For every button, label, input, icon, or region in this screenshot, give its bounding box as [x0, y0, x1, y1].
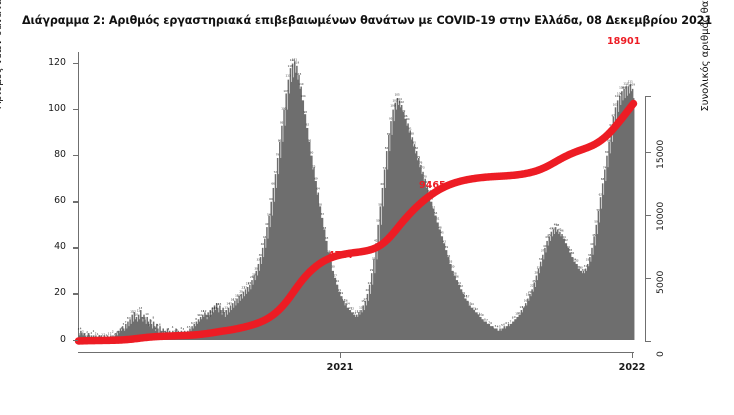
- y-tick-label: 20: [32, 287, 66, 298]
- y-right-tick-mark: [645, 341, 651, 342]
- y-tick-mark: [73, 109, 78, 110]
- y-tick-mark: [73, 155, 78, 156]
- covid-deaths-chart: Διάγραμμα 2: Αριθμός εργαστηριακά επιβεβ…: [0, 0, 734, 415]
- x-tick-mark: [632, 352, 633, 358]
- y-right-tick-mark: [645, 152, 651, 153]
- y-right-tick-mark: [645, 278, 651, 279]
- y-tick-label: 60: [32, 195, 66, 206]
- cumulative-value-annotation: 9465: [419, 180, 446, 191]
- y-right-tick-label: 15000: [655, 139, 666, 168]
- y-axis-right-cap: [645, 96, 651, 97]
- y-right-tick-mark: [645, 215, 651, 216]
- y-tick-label: 40: [32, 241, 66, 252]
- y-tick-label: 120: [32, 57, 66, 68]
- cumulative-value-annotation: 4737: [328, 250, 355, 261]
- y-right-tick-label: 5000: [655, 271, 666, 294]
- y-tick-mark: [73, 247, 78, 248]
- x-tick-label: 2021: [310, 362, 370, 373]
- y-tick-mark: [73, 293, 78, 294]
- x-tick-mark: [340, 352, 341, 358]
- y-tick-label: 80: [32, 149, 66, 160]
- y-right-tick-label: 10000: [655, 202, 666, 231]
- cumulative-line-layer: [0, 0, 734, 415]
- cumulative-value-annotation: 18901: [607, 36, 640, 47]
- x-tick-label: 2022: [602, 362, 662, 373]
- y-tick-mark: [73, 201, 78, 202]
- y-tick-label: 0: [32, 334, 66, 345]
- y-tick-mark: [73, 340, 78, 341]
- y-tick-label: 100: [32, 103, 66, 114]
- y-tick-mark: [73, 63, 78, 64]
- y-right-tick-label: 0: [655, 351, 666, 357]
